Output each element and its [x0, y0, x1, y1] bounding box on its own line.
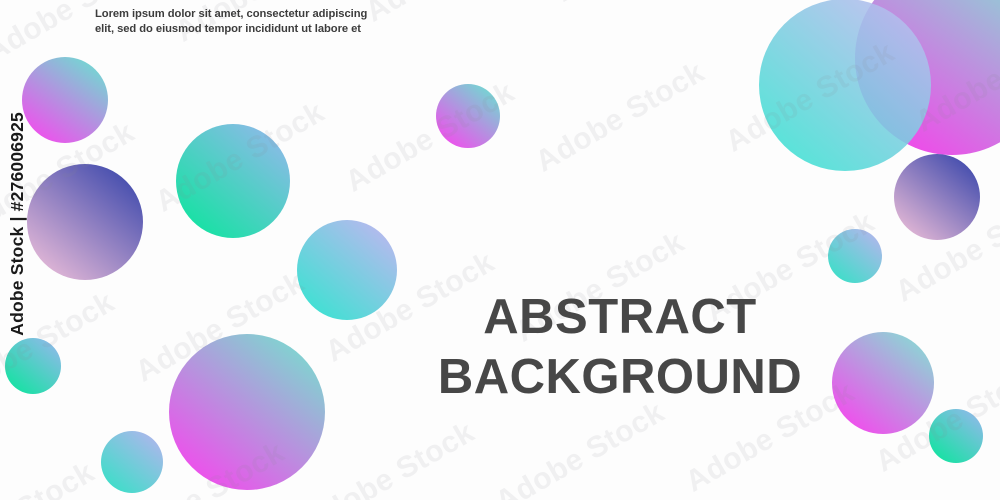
watermark-tile: Adobe Stock: [530, 56, 711, 180]
circle-magenta-bottomright: [832, 332, 934, 434]
circle-magenta-big-bottom: [169, 334, 325, 490]
title-line-2: BACKGROUND: [420, 347, 820, 407]
circle-teal-center: [297, 220, 397, 320]
circle-indigo-right: [894, 154, 980, 240]
watermark-tile: Adobe Stock: [490, 396, 671, 500]
circle-teal-bottomleft: [101, 431, 163, 493]
title-line-1: ABSTRACT: [420, 287, 820, 347]
circle-green-midleft: [176, 124, 290, 238]
page-title: ABSTRACT BACKGROUND: [420, 287, 820, 407]
header-text: Lorem ipsum dolor sit amet, consectetur …: [95, 7, 360, 36]
circle-teal-topright-front: [759, 0, 931, 171]
circle-magenta-topleft: [22, 57, 108, 143]
abstract-background-canvas: Adobe StockAdobe StockAdobe StockAdobe S…: [0, 0, 1000, 500]
watermark-tile: Adobe Stock: [550, 0, 731, 9]
circle-teal-rightsmall: [828, 229, 882, 283]
watermark-tile: Adobe Stock: [300, 416, 481, 500]
side-watermark: Adobe Stock | #276006925: [2, 0, 32, 500]
header-line-1: Lorem ipsum dolor sit amet, consectetur …: [95, 7, 360, 22]
circle-indigo-left: [27, 164, 143, 280]
header-line-2: elit, sed do eiusmod tempor incididunt u…: [95, 22, 360, 37]
circle-green-bottomright: [929, 409, 983, 463]
circle-magenta-topcenter: [436, 84, 500, 148]
side-watermark-text: Adobe Stock | #276006925: [7, 112, 28, 336]
watermark-tile: Adobe Stock: [360, 0, 541, 29]
watermark-tile: Adobe Stock: [340, 76, 521, 200]
